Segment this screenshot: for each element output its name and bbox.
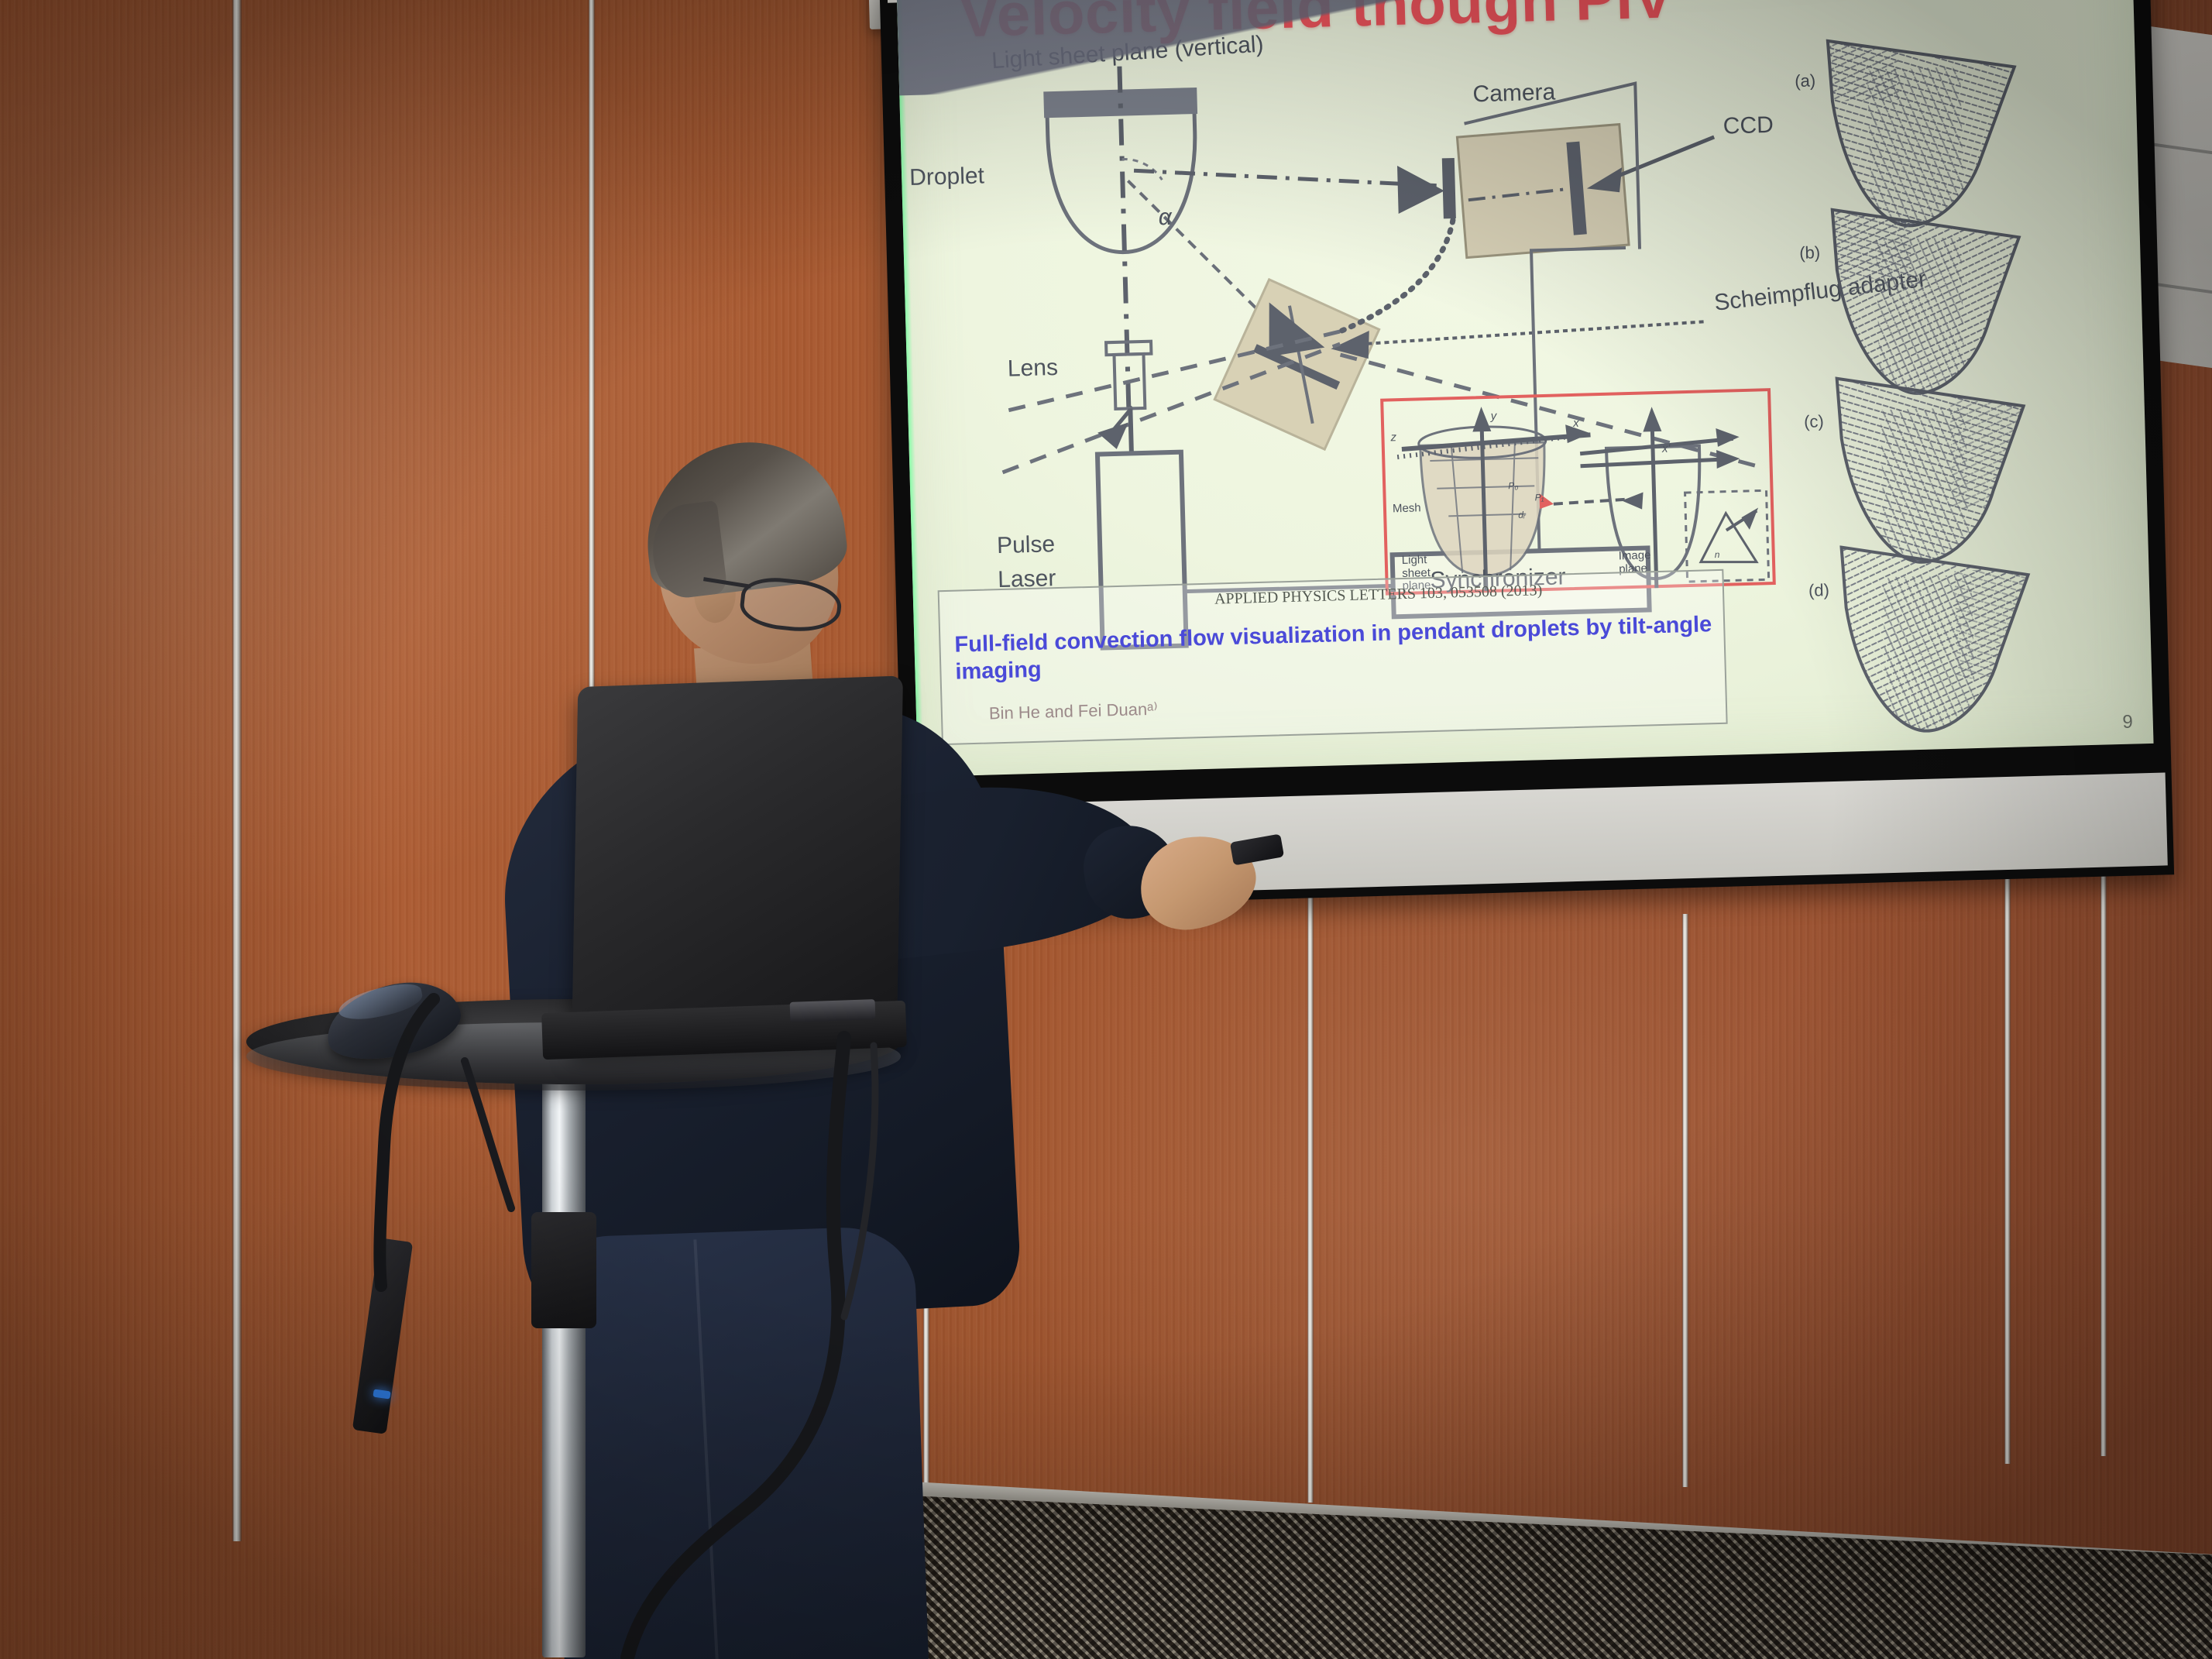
inset-axis-label-x: x [1573, 417, 1579, 430]
label-ccd: CCD [1723, 112, 1774, 140]
laptop-ports [790, 999, 876, 1022]
journal-citation: APPLIED PHYSICS LETTERS 103, 053508 (201… [1214, 582, 1543, 608]
presentation-room-photo: Velocity field though PIV [0, 0, 2212, 1659]
vector-panel-label-c: (c) [1804, 411, 1824, 432]
podium-cable-clamp [531, 1212, 596, 1328]
slide-page-number: 9 [2122, 712, 2133, 733]
wall-panel-seam-1 [232, 0, 242, 1541]
wall-panel-seam-4 [1307, 891, 1314, 1503]
label-droplet: Droplet [909, 163, 985, 191]
wall-panel-seam-5 [1682, 914, 1688, 1487]
vector-panel-label-b: (b) [1799, 242, 1821, 263]
presenter-trousers [550, 1225, 930, 1659]
vector-panel-label-a: (a) [1795, 70, 1816, 91]
inset-label-n: n [1715, 549, 1720, 560]
label-alpha-angle: α [1158, 204, 1172, 231]
inset-label-dr: dᵣ [1518, 510, 1525, 520]
inset-label-p1: P₁ [1534, 492, 1544, 503]
inset-axis-label-x-prime: x' [1662, 442, 1671, 455]
label-lens: Lens [1007, 355, 1058, 383]
vector-panel-label-d: (d) [1808, 580, 1830, 601]
inset-label-mesh: Mesh [1393, 501, 1421, 515]
inset-axis-label-y: y [1491, 410, 1497, 423]
presenter-hair [636, 431, 850, 602]
label-camera: Camera [1472, 79, 1556, 108]
podium-table-pole [542, 1069, 586, 1657]
laptop-lid[interactable] [572, 675, 903, 1051]
inset-axis-label-z: z [1390, 431, 1396, 444]
inset-label-p0: P₀ [1508, 480, 1518, 491]
